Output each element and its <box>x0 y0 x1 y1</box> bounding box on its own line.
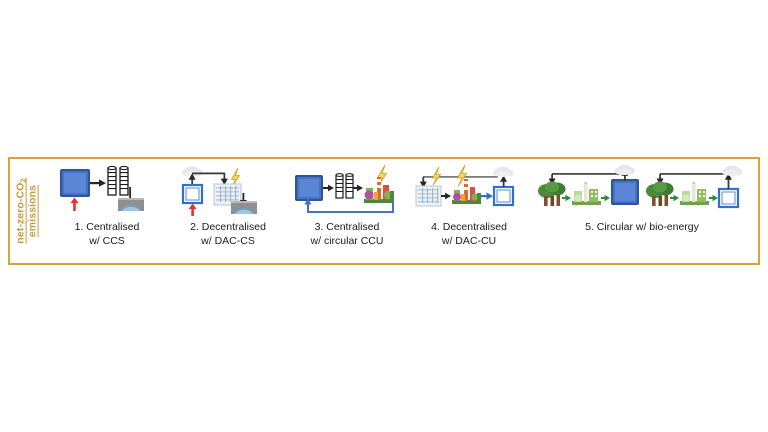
cloud-icon <box>615 165 635 175</box>
scenario-4-label-line1: 4. Decentralised <box>431 221 507 233</box>
biorefinery-icon <box>680 182 709 205</box>
co2-storage-icon <box>231 201 257 214</box>
small-plant-icon <box>494 187 513 205</box>
scenario-3-label-line1: 3. Centralised <box>315 221 380 233</box>
scenario-4-label-line2: w/ DAC-CU <box>431 235 507 249</box>
scenario-3-label-line2: w/ circular CCU <box>311 235 384 249</box>
chemical-plant-icon <box>452 179 481 204</box>
capture-towers-icon <box>108 166 128 195</box>
scenario-3-artwork <box>291 165 403 217</box>
axis-label-line1: net-zero-CO2 <box>15 178 27 243</box>
industrial-plant-icon <box>295 175 323 201</box>
scenario-centralised-circular-ccu[interactable]: 3. Centralised w/ circular CCU <box>286 165 408 249</box>
scenario-centralised-ccs[interactable]: 1. Centralised w/ CCS <box>44 165 170 249</box>
decentralised-dac-cu-diagram <box>413 165 525 217</box>
arrow-up-icon <box>500 175 507 187</box>
capture-towers-icon <box>336 174 353 198</box>
industrial-plant-icon <box>611 179 639 205</box>
arrow-right-icon <box>601 195 610 201</box>
arrow-right-icon <box>709 195 718 201</box>
centralised-circular-ccu-diagram <box>291 165 403 217</box>
scenario-1-artwork <box>52 165 162 217</box>
arrow-right-icon <box>562 195 571 201</box>
arrow-right-icon <box>481 192 493 199</box>
scenario-1-label-line1: 1. Centralised <box>75 221 140 233</box>
small-plant-icon <box>719 189 738 207</box>
decentralised-dac-cs-diagram <box>176 165 280 217</box>
industrial-plant-icon <box>60 169 90 197</box>
chemical-plant-icon <box>364 177 394 203</box>
arrow-right-icon <box>441 193 451 200</box>
axis-label: net-zero-CO2 emissions <box>10 159 44 263</box>
centralised-ccs-diagram <box>52 165 162 217</box>
dac-unit-icon <box>416 186 441 206</box>
circular-bio-energy-diagram <box>535 165 749 217</box>
axis-label-text: net-zero-CO2 emissions <box>15 178 40 243</box>
cloud-icon <box>493 167 513 177</box>
scenario-decentralised-dac-cu[interactable]: 4. Decentralised w/ DAC-CU <box>408 165 530 249</box>
red-up-arrow-icon <box>71 198 79 212</box>
red-up-arrow-icon <box>189 204 197 217</box>
scenario-2-label-line2: w/ DAC-CS <box>190 235 266 249</box>
scenario-strip: 1. Centralised w/ CCS <box>44 159 758 263</box>
net-zero-scenarios-panel: net-zero-CO2 emissions <box>8 157 760 265</box>
scenario-5-label-line1: 5. Circular w/ bio-energy <box>585 221 699 233</box>
scenario-4-artwork <box>413 165 525 217</box>
scenario-5-label: 5. Circular w/ bio-energy <box>585 221 699 235</box>
scenario-2-label: 2. Decentralised w/ DAC-CS <box>190 221 266 249</box>
cloud-icon <box>722 166 742 176</box>
scenario-3-label: 3. Centralised w/ circular CCU <box>311 221 384 249</box>
scenario-decentralised-dac-cs[interactable]: 2. Decentralised w/ DAC-CS <box>170 165 286 249</box>
arrow-right-icon <box>670 195 679 201</box>
biorefinery-icon <box>572 182 601 205</box>
scenario-5-artwork <box>535 165 749 217</box>
small-plant-icon <box>183 185 202 203</box>
trees-icon <box>538 182 566 207</box>
scenario-4-label: 4. Decentralised w/ DAC-CU <box>431 221 507 249</box>
co2-storage-icon <box>118 198 144 211</box>
arrow-right-icon <box>323 185 334 192</box>
lightning-bolt-icon <box>433 167 441 185</box>
arrow-right-icon <box>90 179 106 186</box>
axis-label-line2: emissions <box>27 178 39 243</box>
scenario-circular-bio-energy[interactable]: 5. Circular w/ bio-energy <box>530 165 754 235</box>
trees-icon <box>646 182 674 207</box>
scenario-2-artwork <box>176 165 280 217</box>
scenario-1-label-line2: w/ CCS <box>75 235 140 249</box>
arrow-right-icon <box>353 185 363 192</box>
scenario-1-label: 1. Centralised w/ CCS <box>75 221 140 249</box>
scenario-2-label-line1: 2. Decentralised <box>190 221 266 233</box>
